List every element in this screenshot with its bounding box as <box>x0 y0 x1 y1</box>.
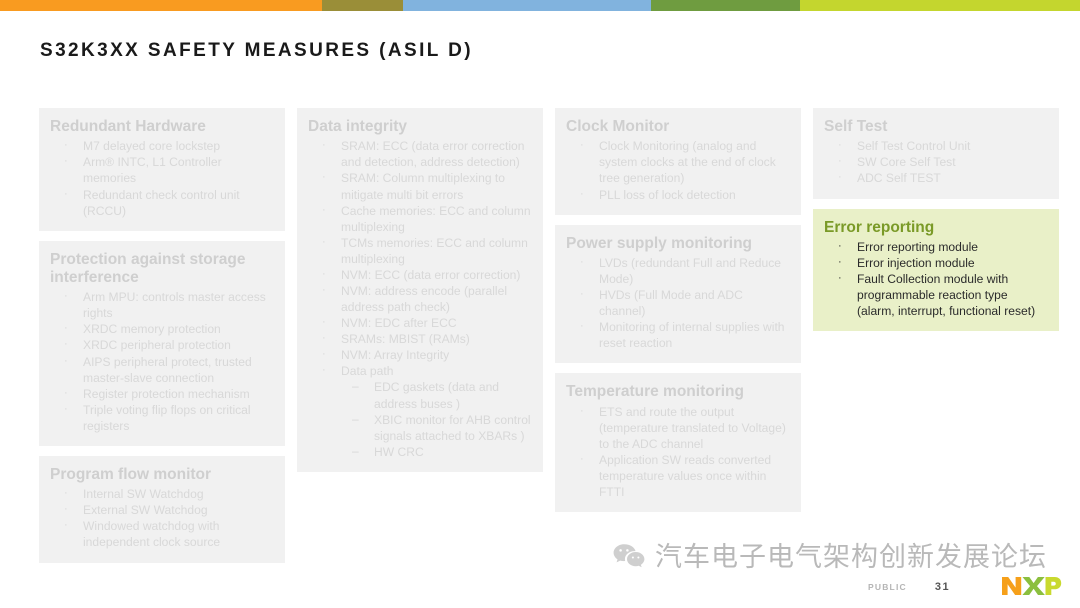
panel-bullet-list: ·Clock Monitoring (analog and system clo… <box>566 138 790 202</box>
list-item: ·Clock Monitoring (analog and system clo… <box>566 138 790 186</box>
panel-redundant-hardware: Redundant Hardware·M7 delayed core locks… <box>39 108 285 231</box>
top-bar-segment-blue <box>403 0 651 11</box>
top-color-bar <box>0 0 1080 11</box>
list-item-label: Monitoring of internal supplies with res… <box>599 320 785 350</box>
panel-bullet-list: ·Internal SW Watchdog·External SW Watchd… <box>50 486 274 550</box>
bullet-icon: · <box>322 347 326 362</box>
nxp-logo <box>1000 574 1062 598</box>
panel-bullet-list: ·Arm MPU: controls master access rights·… <box>50 289 274 434</box>
panel-bullet-list: ·SRAM: ECC (data error correction and de… <box>308 138 532 460</box>
list-item: ·AIPS peripheral protect, trusted master… <box>50 354 274 386</box>
bullet-icon: · <box>580 187 584 202</box>
column-redundant-hardware: Redundant Hardware·M7 delayed core locks… <box>39 108 285 563</box>
footer-brand: 汽车电子电气架构创新发展论坛 <box>612 542 1047 572</box>
list-item-label: Register protection mechanism <box>83 387 250 401</box>
bullet-icon: · <box>838 239 842 254</box>
list-item: ·NVM: ECC (data error correction) <box>308 267 532 283</box>
bullet-icon: · <box>580 319 584 334</box>
list-item-label: Data path <box>341 364 393 378</box>
bullet-icon: · <box>64 289 68 304</box>
sub-list-item-label: XBIC monitor for AHB control signals att… <box>374 413 531 443</box>
bullet-icon: · <box>322 203 326 218</box>
bullet-icon: · <box>64 486 68 501</box>
column-self-test-error-reporting: Self Test·Self Test Control Unit·SW Core… <box>813 108 1059 331</box>
panel-heading: Redundant Hardware <box>50 118 274 136</box>
list-item-label: Triple voting flip flops on critical reg… <box>83 403 251 433</box>
panel-protection-against-storage-interference: Protection against storage interference·… <box>39 241 285 446</box>
bullet-icon: · <box>64 154 68 169</box>
column-data-integrity: Data integrity·SRAM: ECC (data error cor… <box>297 108 543 472</box>
bullet-icon: · <box>322 138 326 153</box>
list-item-label: M7 delayed core lockstep <box>83 139 220 153</box>
list-item: ·NVM: Array Integrity <box>308 347 532 363</box>
panel-bullet-list: ·Self Test Control Unit·SW Core Self Tes… <box>824 138 1048 186</box>
list-item-label: NVM: Array Integrity <box>341 348 449 362</box>
bullet-icon: · <box>64 386 68 401</box>
dash-icon: – <box>352 444 359 460</box>
panel-heading: Temperature monitoring <box>566 383 790 401</box>
list-item-label: XRDC memory protection <box>83 322 221 336</box>
bullet-icon: · <box>322 170 326 185</box>
list-item-label: PLL loss of lock detection <box>599 188 736 202</box>
list-item-label: Arm® INTC, L1 Controller memories <box>83 155 222 185</box>
panel-data-integrity: Data integrity·SRAM: ECC (data error cor… <box>297 108 543 472</box>
bullet-icon: · <box>64 354 68 369</box>
confidentiality-label: PUBLIC <box>868 582 907 592</box>
list-item-label: XRDC peripheral protection <box>83 338 231 352</box>
top-bar-segment-orange <box>0 0 322 11</box>
list-item: ·External SW Watchdog <box>50 502 274 518</box>
list-item-label: SRAMs: MBIST (RAMs) <box>341 332 470 346</box>
page-number: 31 <box>935 581 950 593</box>
bullet-icon: · <box>64 402 68 417</box>
panel-power-supply-monitoring: Power supply monitoring·LVDs (redundant … <box>555 225 801 364</box>
list-item-label: AIPS peripheral protect, trusted master-… <box>83 355 252 385</box>
list-item: ·PLL loss of lock detection <box>566 187 790 203</box>
list-item-label: Error injection module <box>857 256 975 270</box>
list-item: ·SW Core Self Test <box>824 154 1048 170</box>
list-item-label: Self Test Control Unit <box>857 139 970 153</box>
list-item-label: NVM: ECC (data error correction) <box>341 268 520 282</box>
bullet-icon: · <box>64 502 68 517</box>
list-item: ·Arm® INTC, L1 Controller memories <box>50 154 274 186</box>
wechat-icon <box>612 542 646 572</box>
list-item: ·Internal SW Watchdog <box>50 486 274 502</box>
list-item-label: Internal SW Watchdog <box>83 487 204 501</box>
list-item: ·NVM: address encode (parallel address p… <box>308 283 532 315</box>
bullet-icon: · <box>322 315 326 330</box>
list-item: ·Error injection module <box>824 255 1048 271</box>
dash-icon: – <box>352 379 359 395</box>
list-item: ·TCMs memories: ECC and column multiplex… <box>308 235 532 267</box>
bullet-icon: · <box>580 404 584 419</box>
bullet-icon: · <box>838 271 842 286</box>
panel-heading: Power supply monitoring <box>566 235 790 253</box>
list-item: ·Windowed watchdog with independent cloc… <box>50 518 274 550</box>
list-item-label: TCMs memories: ECC and column multiplexi… <box>341 236 528 266</box>
bullet-icon: · <box>64 518 68 533</box>
bullet-icon: · <box>580 138 584 153</box>
list-item-label: Application SW reads converted temperatu… <box>599 453 771 499</box>
panel-bullet-list: ·ETS and route the output (temperature t… <box>566 404 790 500</box>
bullet-icon: · <box>580 255 584 270</box>
list-item: ·SRAM: ECC (data error correction and de… <box>308 138 532 170</box>
panel-program-flow-monitor: Program flow monitor·Internal SW Watchdo… <box>39 456 285 563</box>
list-item-label: SRAM: Column multiplexing to mitigate mu… <box>341 171 505 201</box>
list-item-label: External SW Watchdog <box>83 503 208 517</box>
bullet-icon: · <box>322 235 326 250</box>
bullet-icon: · <box>322 283 326 298</box>
list-item: ·Redundant check control unit (RCCU) <box>50 187 274 219</box>
list-item-label: ETS and route the output (temperature tr… <box>599 405 786 451</box>
footer-wechat-text: 汽车电子电气架构创新发展论坛 <box>655 544 1047 571</box>
panel-self-test: Self Test·Self Test Control Unit·SW Core… <box>813 108 1059 199</box>
bullet-icon: · <box>838 170 842 185</box>
bullet-icon: · <box>580 452 584 467</box>
list-item-label: NVM: address encode (parallel address pa… <box>341 284 507 314</box>
panel-error-reporting: Error reporting·Error reporting module·E… <box>813 209 1059 332</box>
list-item: ·HVDs (Full Mode and ADC channel) <box>566 287 790 319</box>
list-item: ·Arm MPU: controls master access rights <box>50 289 274 321</box>
panel-heading: Data integrity <box>308 118 532 136</box>
safety-measures-board: Redundant Hardware·M7 delayed core locks… <box>39 108 1041 523</box>
bullet-icon: · <box>322 331 326 346</box>
list-item: ·XRDC peripheral protection <box>50 337 274 353</box>
list-item: ·Error reporting module <box>824 239 1048 255</box>
list-item: ·SRAMs: MBIST (RAMs) <box>308 331 532 347</box>
bullet-icon: · <box>64 337 68 352</box>
panel-sub-list: –EDC gaskets (data and address buses )–X… <box>341 379 532 459</box>
list-item-label: Fault Collection module with programmabl… <box>857 272 1035 318</box>
panel-heading: Error reporting <box>824 219 1048 237</box>
list-item: ·Fault Collection module with programmab… <box>824 271 1048 319</box>
bullet-icon: · <box>838 138 842 153</box>
list-item-label: SW Core Self Test <box>857 155 956 169</box>
panel-bullet-list: ·LVDs (redundant Full and Reduce Mode)·H… <box>566 255 790 351</box>
top-bar-segment-olive <box>322 0 403 11</box>
sub-list-item-label: HW CRC <box>374 445 424 459</box>
list-item: ·Self Test Control Unit <box>824 138 1048 154</box>
list-item: ·Register protection mechanism <box>50 386 274 402</box>
sub-list-item: –HW CRC <box>341 444 532 460</box>
list-item: ·XRDC memory protection <box>50 321 274 337</box>
bullet-icon: · <box>322 363 326 378</box>
list-item-label: Arm MPU: controls master access rights <box>83 290 266 320</box>
list-item-label: Redundant check control unit (RCCU) <box>83 188 240 218</box>
panel-heading: Program flow monitor <box>50 466 274 484</box>
list-item-label: Clock Monitoring (analog and system cloc… <box>599 139 776 185</box>
page-title: S32K3XX SAFETY MEASURES (ASIL D) <box>40 40 473 62</box>
list-item: ·Triple voting flip flops on critical re… <box>50 402 274 434</box>
panel-heading: Protection against storage interference <box>50 251 274 288</box>
bullet-icon: · <box>64 187 68 202</box>
top-bar-segment-lime <box>800 0 1080 11</box>
list-item: ·SRAM: Column multiplexing to mitigate m… <box>308 170 532 202</box>
list-item-label: Error reporting module <box>857 240 978 254</box>
list-item: ·Monitoring of internal supplies with re… <box>566 319 790 351</box>
sub-list-item-label: EDC gaskets (data and address buses ) <box>374 380 499 410</box>
list-item-label: Cache memories: ECC and column multiplex… <box>341 204 531 234</box>
bullet-icon: · <box>64 138 68 153</box>
list-item: ·Application SW reads converted temperat… <box>566 452 790 500</box>
panel-heading: Self Test <box>824 118 1048 136</box>
panel-clock-monitor: Clock Monitor·Clock Monitoring (analog a… <box>555 108 801 215</box>
list-item-label: NVM: EDC after ECC <box>341 316 457 330</box>
list-item: ·LVDs (redundant Full and Reduce Mode) <box>566 255 790 287</box>
dash-icon: – <box>352 412 359 428</box>
top-bar-segment-green <box>651 0 800 11</box>
bullet-icon: · <box>838 255 842 270</box>
panel-bullet-list: ·Error reporting module·Error injection … <box>824 239 1048 319</box>
panel-bullet-list: ·M7 delayed core lockstep·Arm® INTC, L1 … <box>50 138 274 218</box>
bullet-icon: · <box>322 267 326 282</box>
bullet-icon: · <box>838 154 842 169</box>
bullet-icon: · <box>64 321 68 336</box>
list-item-label: LVDs (redundant Full and Reduce Mode) <box>599 256 781 286</box>
list-item-label: SRAM: ECC (data error correction and det… <box>341 139 524 169</box>
list-item: ·ETS and route the output (temperature t… <box>566 404 790 452</box>
panel-heading: Clock Monitor <box>566 118 790 136</box>
panel-temperature-monitoring: Temperature monitoring·ETS and route the… <box>555 373 801 512</box>
list-item: ·ADC Self TEST <box>824 170 1048 186</box>
bullet-icon: · <box>580 287 584 302</box>
list-item: ·NVM: EDC after ECC <box>308 315 532 331</box>
list-item: ·M7 delayed core lockstep <box>50 138 274 154</box>
footer-meta: PUBLIC 31 <box>868 581 950 593</box>
list-item-label: HVDs (Full Mode and ADC channel) <box>599 288 743 318</box>
sub-list-item: –XBIC monitor for AHB control signals at… <box>341 412 532 444</box>
list-item-label: ADC Self TEST <box>857 171 941 185</box>
list-item: ·Data path–EDC gaskets (data and address… <box>308 363 532 459</box>
list-item-label: Windowed watchdog with independent clock… <box>83 519 220 549</box>
column-clock-power-temperature: Clock Monitor·Clock Monitoring (analog a… <box>555 108 801 512</box>
list-item: ·Cache memories: ECC and column multiple… <box>308 203 532 235</box>
sub-list-item: –EDC gaskets (data and address buses ) <box>341 379 532 411</box>
